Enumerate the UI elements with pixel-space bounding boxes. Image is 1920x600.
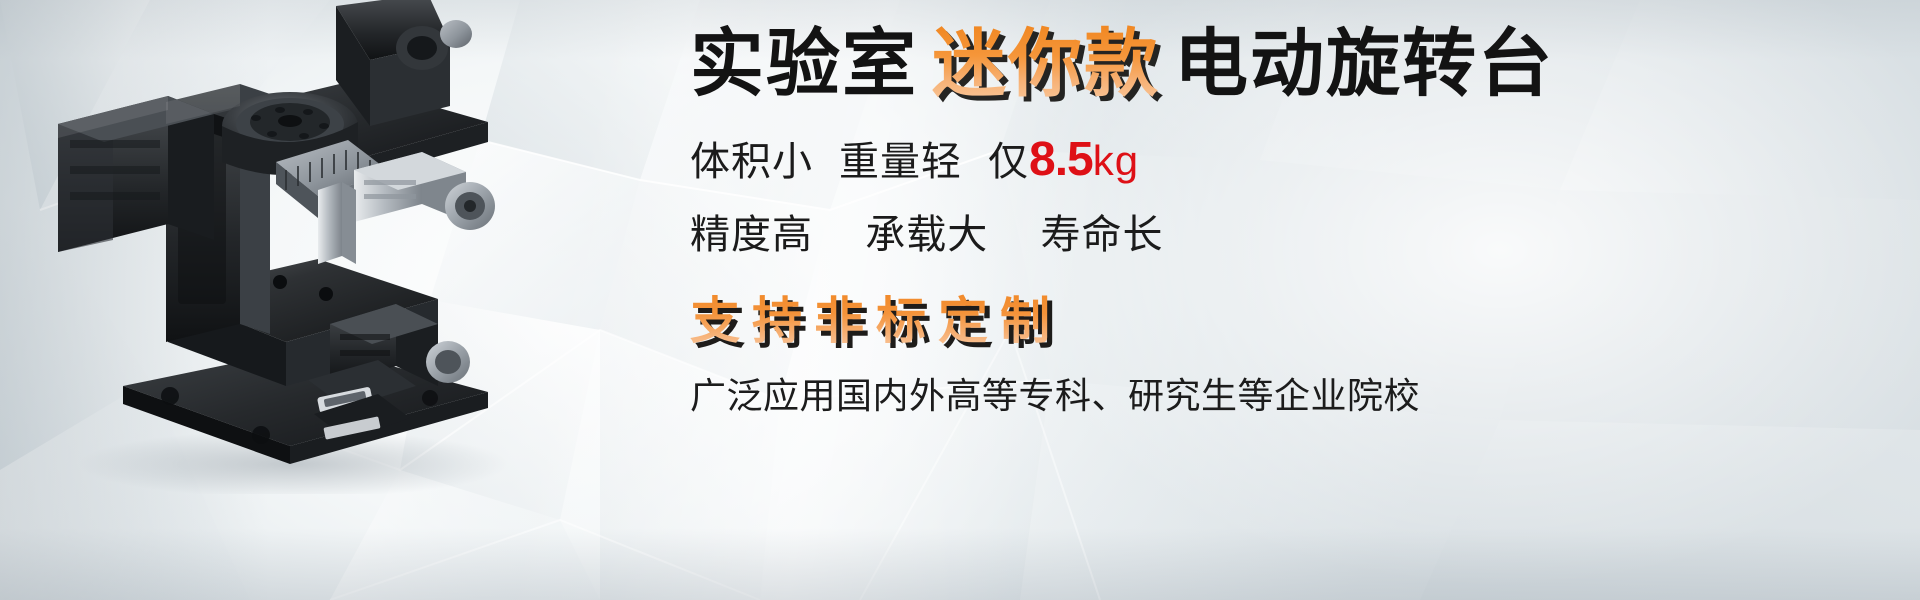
spec-long-life: 寿命长 xyxy=(1041,213,1164,257)
spec-line-performance: 精度高 承载大 寿命长 xyxy=(690,213,1870,257)
weight-prefix: 仅 xyxy=(988,140,1029,184)
promo-banner: 实验室 迷你款 电动旋转台 体积小 重量轻 仅 8.5 kg 精度高 承载大 寿… xyxy=(0,0,1920,600)
page-title: 实验室 迷你款 电动旋转台 xyxy=(690,24,1870,104)
banner-copy: 实验室 迷你款 电动旋转台 体积小 重量轻 仅 8.5 kg 精度高 承载大 寿… xyxy=(690,24,1870,416)
spec-high-load: 承载大 xyxy=(865,213,988,257)
headline-part-1: 实验室 xyxy=(690,24,918,104)
headline-highlight: 迷你款 xyxy=(932,24,1160,104)
headline-part-2: 电动旋转台 xyxy=(1174,24,1554,104)
spec-line-weight: 体积小 重量轻 仅 8.5 kg xyxy=(690,134,1870,187)
spec-high-precision: 精度高 xyxy=(690,213,813,257)
spec-light-weight: 重量轻 xyxy=(839,140,962,184)
spec-small-size: 体积小 xyxy=(690,140,813,184)
custom-order-badge: 支持非标定制 xyxy=(690,281,1870,353)
weight-value: 8.5 xyxy=(1029,134,1093,187)
weight-unit: kg xyxy=(1093,138,1139,184)
application-footnote: 广泛应用国内外高等专科、研究生等企业院校 xyxy=(690,375,1870,416)
product-photo xyxy=(18,0,578,494)
